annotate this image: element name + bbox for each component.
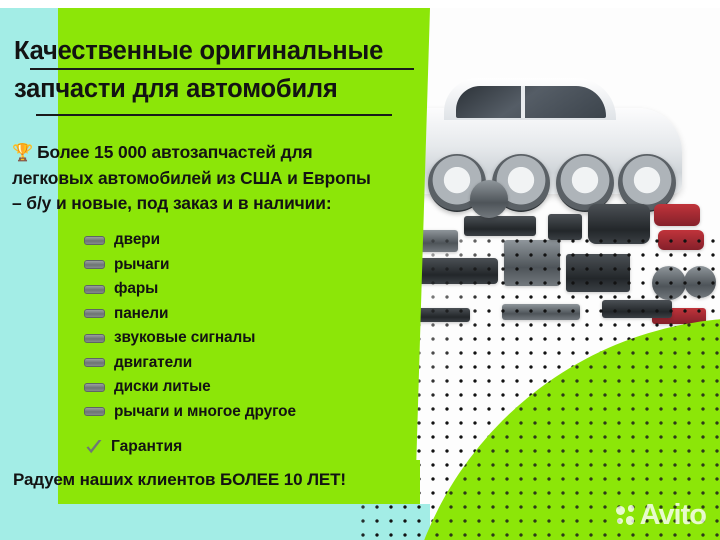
headline-line-2: запчасти для автомобиля [14,70,424,108]
dash-bullet-icon [84,358,105,367]
list-item: панели [84,302,296,327]
list-item-label: двигатели [114,354,192,372]
check-mark-icon [84,437,104,457]
list-item-label: панели [114,305,168,323]
headline: Качественные оригинальные запчасти для а… [14,32,424,108]
dash-bullet-icon [84,383,105,392]
dash-bullet-icon [84,309,105,318]
dash-bullet-icon [84,260,105,269]
avito-wordmark: Avito [640,501,706,530]
dash-bullet-icon [84,236,105,245]
advertisement-banner: Качественные оригинальные запчасти для а… [0,0,720,540]
subheading-line-1: 🏆Более 15 000 автозапчастей для [12,140,427,166]
headline-rule-2 [36,114,392,116]
avito-dots-icon [616,505,637,526]
list-item-label: рычаги и многое другое [114,403,296,421]
dash-bullet-icon [84,407,105,416]
list-item: фары [84,277,296,302]
list-item: рычаги и многое другое [84,400,296,425]
guarantee-row: Гарантия [84,437,182,457]
list-item-label: звуковые сигналы [114,329,255,347]
dash-bullet-icon [84,334,105,343]
guarantee-label: Гарантия [111,438,182,456]
list-item-label: диски литые [114,378,211,396]
headline-rule-1 [30,68,414,70]
dash-bullet-icon [84,285,105,294]
list-item-label: рычаги [114,256,169,274]
tagline: Радуем наших клиентов БОЛЕЕ 10 ЛЕТ! [13,470,346,490]
subheading-line-3: – б/у и новые, под заказ и в наличии: [12,191,427,217]
avito-watermark: Avito [616,501,706,530]
list-item-label: двери [114,231,160,249]
subheading: 🏆Более 15 000 автозапчастей для легковых… [12,140,427,217]
list-item: двери [84,228,296,253]
list-item: двигатели [84,351,296,376]
subheading-text-1: Более 15 000 автозапчастей для [37,142,313,162]
list-item: диски литые [84,375,296,400]
list-item-label: фары [114,280,158,298]
list-item: рычаги [84,253,296,278]
parts-list: двери рычаги фары панели звуковые сигнал… [84,228,296,424]
headline-line-1: Качественные оригинальные [14,32,424,70]
list-item: звуковые сигналы [84,326,296,351]
subheading-line-2: легковых автомобилей из США и Европы [12,166,427,192]
trophy-icon: 🏆 [12,143,33,162]
